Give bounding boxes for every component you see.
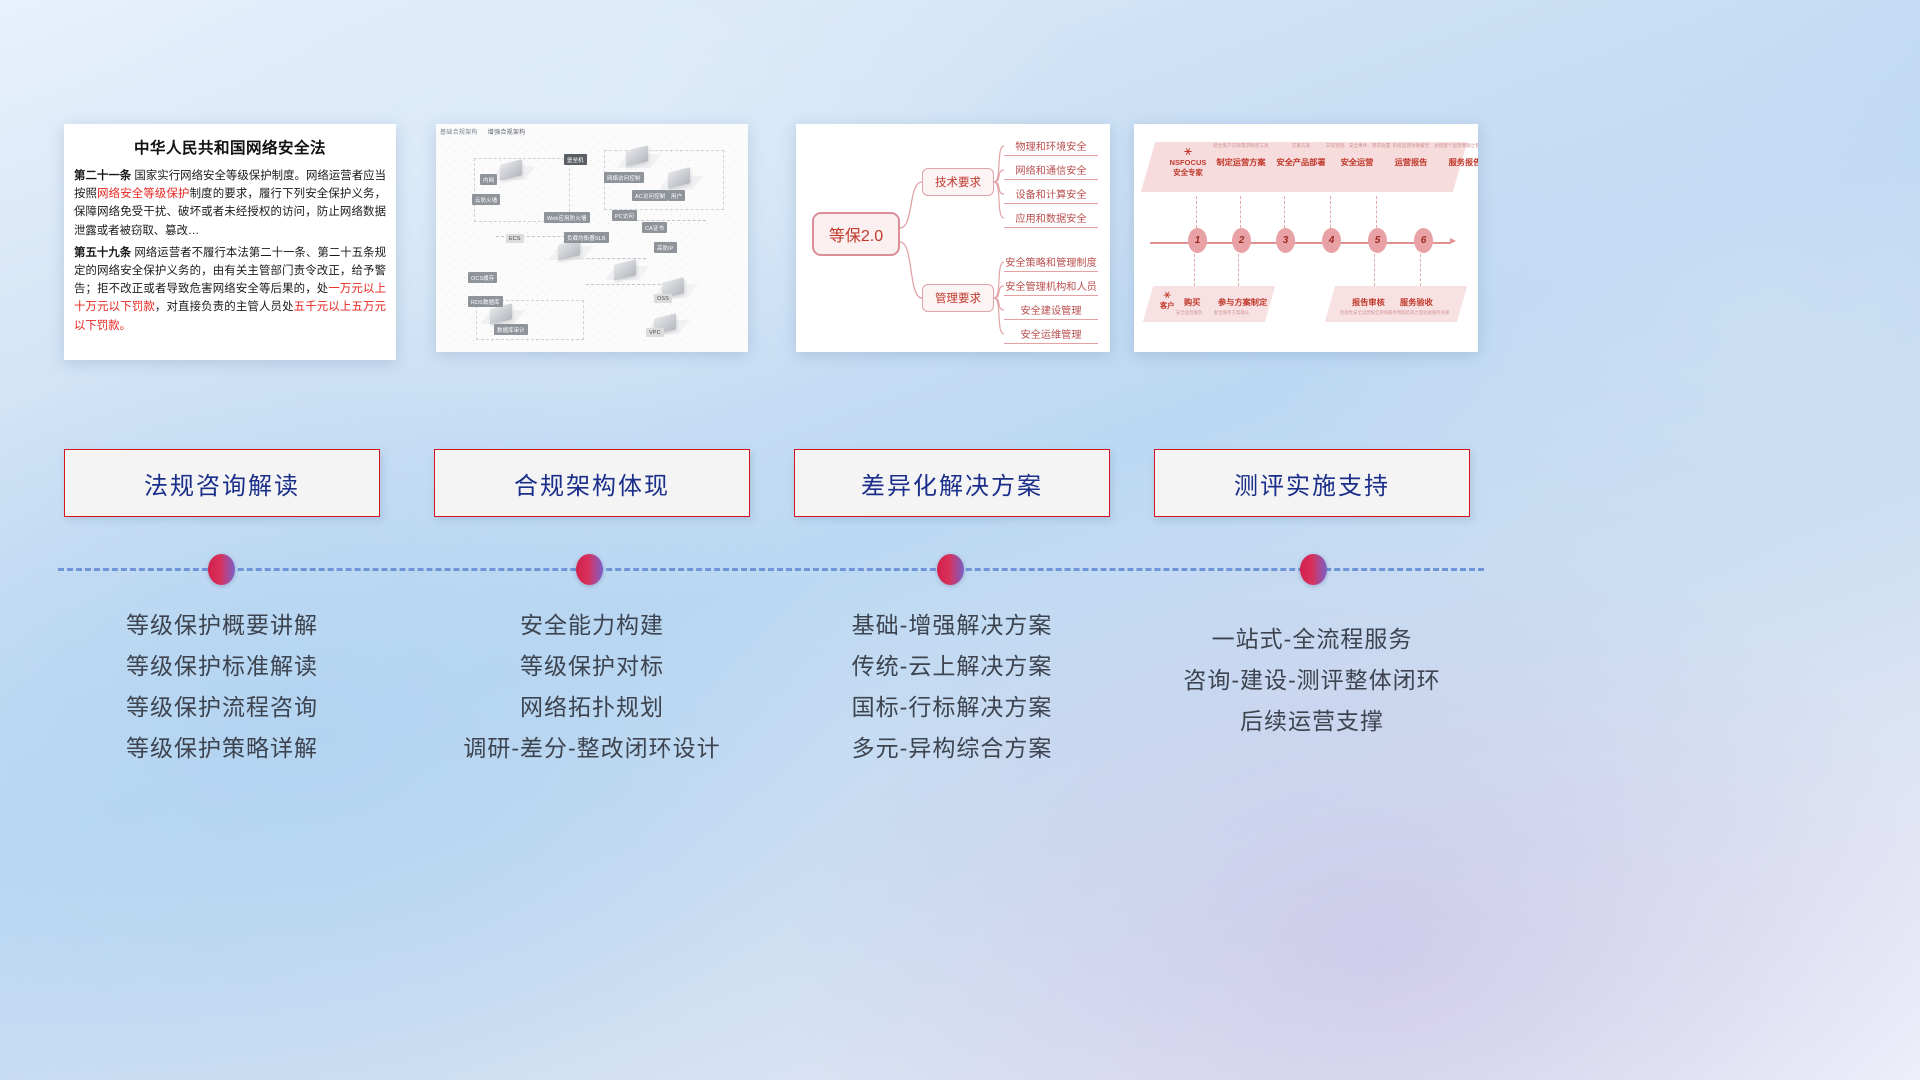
list-item: 等级保护概要讲解 (64, 605, 380, 646)
user-person-icon: ⚹ (1160, 288, 1174, 300)
law-article-21: 第二十一条 国家实行网络安全等级保护制度。网络运营者应当按照网络安全等级保护制度… (74, 167, 386, 240)
mindmap-leaf-org: 安全管理机构和人员 (1004, 278, 1098, 296)
card-nsfocus-timeline: ⚹ NSFOCUS 安全专家 结合客户实际需求制定工具 制定运营方案 实施方案 … (1134, 124, 1478, 352)
nsfocus-axis-arrow-icon (1450, 238, 1456, 244)
nsfocus-logo-line2: 安全专家 (1166, 167, 1210, 178)
list-item: 调研-差分-整改闭环设计 (434, 728, 750, 769)
mindmap-leaf-physical: 物理和环境安全 (1004, 138, 1098, 156)
nsfocus-node-1: 1 (1188, 228, 1207, 253)
card-cybersecurity-law: 中华人民共和国网络安全法 第二十一条 国家实行网络安全等级保护制度。网络运营者应… (64, 124, 396, 360)
law-article-21-highlight: 网络安全等级保护 (97, 188, 189, 200)
nsfocus-step-plan: 结合客户实际需求制定工具 制定运营方案 (1210, 142, 1272, 168)
tab-basic-architecture[interactable]: 基础合规架构 (440, 130, 478, 136)
nsfocus-bottom-review-sub: 阶段性安全运营报告审核 (1340, 310, 1388, 316)
card-mindmap-dengbao: 等保2.0 技术要求 管理要求 物理和环境安全 网络和通信安全 (796, 124, 1110, 352)
list-item: 等级保护标准解读 (64, 646, 380, 687)
nsfocus-bottom-review-label: 报告审核 (1352, 296, 1385, 308)
stage-box-compliance-architecture[interactable]: 合规架构体现 (434, 449, 750, 517)
timeline-dot-3[interactable] (937, 554, 964, 585)
nsfocus-bottom-participate-sub: 配合服务方案确认 (1214, 310, 1249, 316)
architecture-node-ocs: OCS缓存 (468, 272, 497, 283)
nsfocus-step-deploy-main: 安全产品部署 (1270, 156, 1332, 168)
list-item: 咨询-建设-测评整体闭环 (1154, 660, 1470, 701)
architecture-diagram: 基础合规架构 增强合规架构 (436, 124, 748, 352)
card-compliance-architecture: 基础合规架构 增强合规架构 (436, 124, 748, 352)
nsfocus-leg-b4 (1420, 254, 1421, 286)
detail-list-compliance-architecture: 安全能力构建 等级保护对标 网络拓扑规划 调研-差分-整改闭环设计 (434, 605, 750, 769)
nsfocus-leg-2 (1240, 196, 1241, 228)
nsfocus-customer-label: 客户 (1160, 301, 1174, 311)
nsfocus-leg-3 (1284, 196, 1285, 228)
nsfocus-leg-4 (1330, 196, 1331, 228)
nsfocus-step-opsreport: 阶段运营效果报告 运营报告 (1380, 142, 1442, 168)
nsfocus-step-opsreport-main: 运营报告 (1380, 156, 1442, 168)
list-item: 后续运营支撑 (1154, 701, 1470, 742)
detail-list-regulation-consulting: 等级保护概要讲解 等级保护标准解读 等级保护流程咨询 等级保护策略详解 (64, 605, 380, 769)
nsfocus-step-operate: 日常巡检、安全事件、需求处置 安全运营 (1326, 142, 1388, 168)
timeline-dashed-line (58, 568, 1484, 571)
architecture-node-ecs: ECS (506, 234, 524, 243)
nsfocus-node-5: 5 (1368, 228, 1387, 253)
architecture-node-vpc: VPC (646, 328, 664, 337)
nsfocus-leg-b2 (1238, 254, 1239, 286)
architecture-node-cloud-fw: 云防火墙 (472, 194, 500, 205)
architecture-node-antiddos: 高防IP (654, 242, 677, 253)
architecture-tabs: 基础合规架构 增强合规架构 (440, 127, 526, 136)
list-item: 等级保护流程咨询 (64, 687, 380, 728)
mindmap-leaf-app: 应用和数据安全 (1004, 210, 1098, 228)
mindmap-leaf-ops: 安全运维管理 (1004, 326, 1098, 344)
stage-boxes-row: 法规咨询解读 合规架构体现 差异化解决方案 测评实施支持 (0, 449, 1920, 519)
stage-label-4: 测评实施支持 (1234, 466, 1390, 501)
law-body: 第二十一条 国家实行网络安全等级保护制度。网络运营者应当按照网络安全等级保护制度… (64, 167, 396, 335)
nsfocus-bottom-band-right (1325, 286, 1467, 322)
nsfocus-step-opsreport-sub: 阶段运营效果报告 (1380, 142, 1442, 149)
timeline-dot-1[interactable] (208, 554, 235, 585)
law-article-59-label: 第五十九条 (74, 247, 131, 259)
nsfocus-step-deploy: 实施方案 安全产品部署 (1270, 142, 1332, 168)
architecture-node-waf: Web应用防火墙 (544, 212, 590, 223)
expert-person-icon: ⚹ (1166, 144, 1210, 157)
list-item: 基础-增强解决方案 (794, 605, 1110, 646)
timeline-dot-2[interactable] (576, 554, 603, 585)
nsfocus-step-operate-sub: 日常巡检、安全事件、需求处置 (1326, 142, 1388, 149)
architecture-node-netacl: 网络访问控制 (604, 172, 644, 183)
stage-box-differentiated-solution[interactable]: 差异化解决方案 (794, 449, 1110, 517)
nsfocus-leg-1 (1196, 196, 1197, 228)
nsfocus-step-servicereport: 总结整个运营周期之整体运营效果 服务报告 (1434, 142, 1478, 168)
list-item: 传统-云上解决方案 (794, 646, 1110, 687)
nsfocus-bottom-accept-label: 服务验收 (1400, 296, 1433, 308)
nsfocus-step-servicereport-main: 服务报告 (1434, 156, 1478, 168)
nsfocus-top-band-content: ⚹ NSFOCUS 安全专家 结合客户实际需求制定工具 制定运营方案 实施方案 … (1148, 142, 1460, 192)
mindmap-branch-technical: 技术要求 (922, 168, 994, 196)
nsfocus-node-2: 2 (1232, 228, 1251, 253)
nsfocus-logo-line1: NSFOCUS (1166, 158, 1210, 167)
nsfocus-step-deploy-sub: 实施方案 (1270, 142, 1332, 149)
architecture-node-pc: PC访问 (612, 210, 637, 221)
architecture-node-slb: 负载均衡器SLB (564, 232, 609, 243)
mindmap-leaf-network: 网络和通信安全 (1004, 162, 1098, 180)
mindmap: 等保2.0 技术要求 管理要求 物理和环境安全 网络和通信安全 (796, 124, 1110, 352)
nsfocus-bottom-buy-label: 购买 (1184, 296, 1200, 308)
architecture-node-user: 用户 (668, 190, 685, 201)
nsfocus-bottom-participate-label: 参与方案制定 (1218, 296, 1267, 308)
stage-box-regulation-consulting[interactable]: 法规咨询解读 (64, 449, 380, 517)
nsfocus-bottom-accept-sub: 服务周期结束之后验收服务效果 (1388, 310, 1449, 316)
stage-box-assessment-support[interactable]: 测评实施支持 (1154, 449, 1470, 517)
nsfocus-step-plan-sub: 结合客户实际需求制定工具 (1210, 142, 1272, 149)
list-item: 多元-异构综合方案 (794, 728, 1110, 769)
architecture-link-4 (636, 220, 706, 221)
architecture-node-acacl: AC访问控制 (632, 190, 668, 201)
stage-label-3: 差异化解决方案 (861, 466, 1043, 501)
detail-list-assessment-support: 一站式-全流程服务 咨询-建设-测评整体闭环 后续运营支撑 (1154, 619, 1470, 742)
mindmap-leaf-policy: 安全策略和管理制度 (1004, 254, 1098, 272)
nsfocus-bottom-buy-sub: 安全运营服务 (1176, 310, 1202, 316)
nsfocus-step-plan-main: 制定运营方案 (1210, 156, 1272, 168)
nsfocus-step-servicereport-sub: 总结整个运营周期之整体运营效果 (1434, 142, 1478, 149)
nsfocus-expert-logo: ⚹ NSFOCUS 安全专家 (1166, 144, 1210, 178)
law-title: 中华人民共和国网络安全法 (64, 136, 396, 158)
reference-cards-row: 中华人民共和国网络安全法 第二十一条 国家实行网络安全等级保护制度。网络运营者应… (0, 124, 1920, 362)
architecture-node-dbaudit: 数据库审计 (494, 324, 528, 335)
law-article-21-label: 第二十一条 (74, 170, 131, 182)
list-item: 一站式-全流程服务 (1154, 619, 1470, 660)
mindmap-branch-management: 管理要求 (922, 284, 994, 312)
nsfocus-node-6: 6 (1414, 228, 1433, 253)
list-item: 等级保护策略详解 (64, 728, 380, 769)
law-article-59-text-b: ，对直接负责的主管人员处 (155, 301, 294, 313)
slide-root: 中华人民共和国网络安全法 第二十一条 国家实行网络安全等级保护制度。网络运营者应… (0, 0, 1920, 1080)
stage-label-2: 合规架构体现 (514, 466, 670, 501)
list-item: 等级保护对标 (434, 646, 750, 687)
architecture-node-oss: OSS (654, 294, 672, 303)
architecture-node-ca: CA证书 (642, 222, 667, 233)
architecture-node-intranet: 内网 (480, 174, 497, 185)
architecture-node-rds: RDS数据库 (468, 296, 503, 307)
list-item: 网络拓扑规划 (434, 687, 750, 728)
mindmap-leaf-device: 设备和计算安全 (1004, 186, 1098, 204)
detail-list-differentiated-solution: 基础-增强解决方案 传统-云上解决方案 国标-行标解决方案 多元-异构综合方案 (794, 605, 1110, 769)
mindmap-leaf-build: 安全建设管理 (1004, 302, 1098, 320)
list-item: 国标-行标解决方案 (794, 687, 1110, 728)
nsfocus-leg-b3 (1374, 254, 1375, 286)
law-article-59: 第五十九条 网络运营者不履行本法第二十一条、第二十五条规定的网络安全保护义务的，… (74, 244, 386, 335)
nsfocus-leg-5 (1376, 196, 1377, 228)
timeline-dot-4[interactable] (1300, 554, 1327, 585)
nsfocus-diagram: ⚹ NSFOCUS 安全专家 结合客户实际需求制定工具 制定运营方案 实施方案 … (1134, 124, 1478, 352)
nsfocus-node-3: 3 (1276, 228, 1295, 253)
nsfocus-customer-logo: ⚹ 客户 (1160, 288, 1174, 311)
list-item: 安全能力构建 (434, 605, 750, 646)
architecture-node-bastion: 堡垒机 (564, 154, 587, 165)
tab-enhanced-architecture[interactable]: 增强合规架构 (488, 130, 526, 136)
stage-label-1: 法规咨询解读 (144, 466, 300, 501)
nsfocus-node-4: 4 (1322, 228, 1341, 253)
nsfocus-step-operate-main: 安全运营 (1326, 156, 1388, 168)
nsfocus-leg-b1 (1194, 254, 1195, 286)
